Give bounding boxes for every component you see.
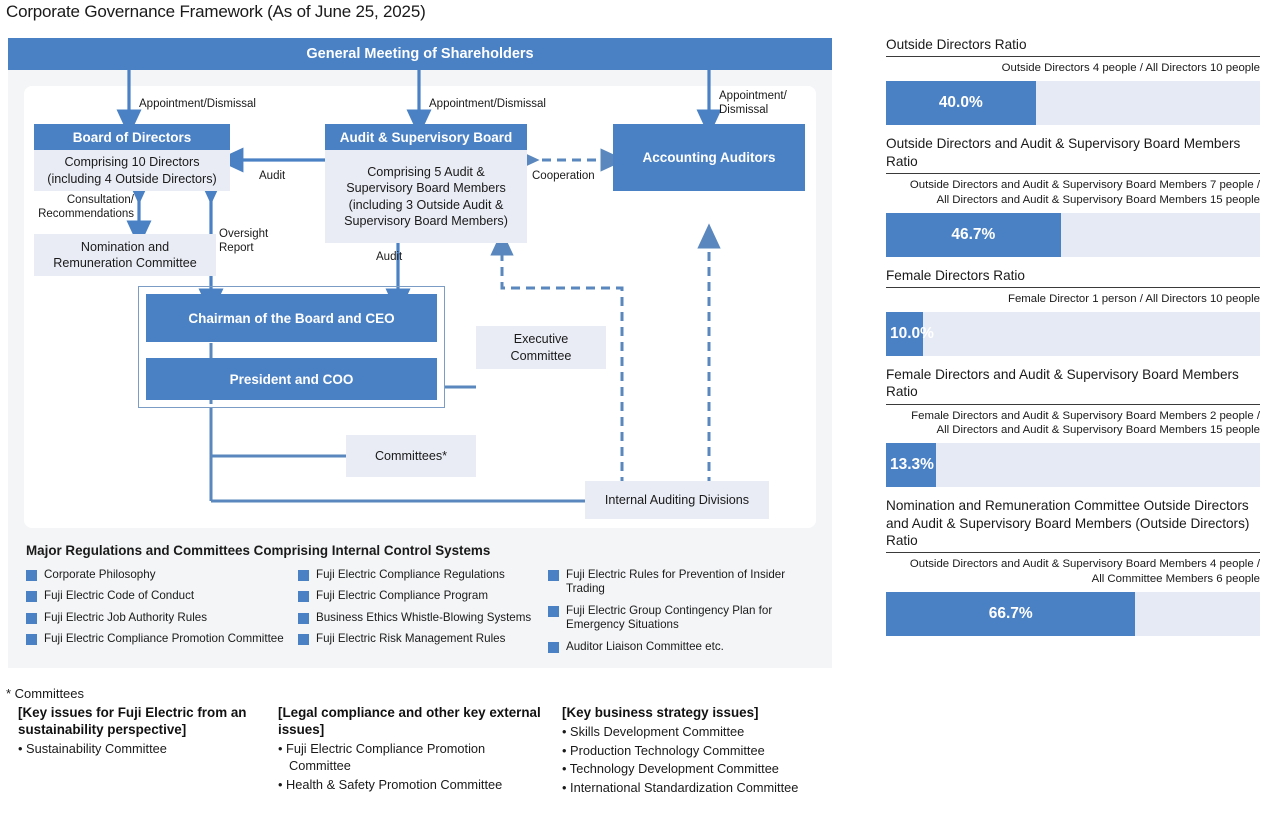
board-of-directors-title: Board of Directors bbox=[34, 124, 230, 150]
metric-subtext: Outside Directors and Audit & Supervisor… bbox=[886, 557, 1260, 587]
node-executive-committee: Executive Committee bbox=[476, 326, 606, 369]
bullet-square-icon bbox=[548, 642, 559, 653]
node-accounting-auditors: Accounting Auditors bbox=[613, 124, 805, 191]
metric-title: Female Directors and Audit & Supervisory… bbox=[886, 366, 1260, 401]
metric-value-label: 13.3% bbox=[890, 443, 934, 487]
edge-label-cooperation: Cooperation bbox=[532, 170, 595, 184]
regulation-label: Fuji Electric Compliance Program bbox=[316, 589, 488, 603]
regulation-label: Business Ethics Whistle-Blowing Systems bbox=[316, 611, 531, 625]
node-board-of-directors: Board of Directors Comprising 10 Directo… bbox=[34, 124, 230, 191]
footnote-item: • International Standardization Committe… bbox=[562, 780, 862, 797]
regulation-label: Fuji Electric Code of Conduct bbox=[44, 589, 194, 603]
regulation-label: Corporate Philosophy bbox=[44, 568, 156, 582]
edge-label-oversight-report: Oversight Report bbox=[219, 228, 289, 255]
governance-framework-page: Corporate Governance Framework (As of Ju… bbox=[0, 0, 1264, 830]
metric-subtext-line: Outside Directors 4 people / All Directo… bbox=[886, 61, 1260, 76]
bullet-square-icon bbox=[298, 591, 309, 602]
edge-label-appointment-1: Appointment/Dismissal bbox=[139, 98, 256, 112]
regulation-label: Fuji Electric Group Contingency Plan for… bbox=[566, 604, 824, 633]
metric-divider bbox=[886, 552, 1260, 553]
regulation-item: Auditor Liaison Committee etc. bbox=[548, 640, 824, 654]
footnote-column-3: [Key business strategy issues] • Skills … bbox=[562, 704, 862, 799]
regulation-label: Fuji Electric Risk Management Rules bbox=[316, 632, 505, 646]
bullet-square-icon bbox=[26, 634, 37, 645]
regulation-item: Fuji Electric Risk Management Rules bbox=[298, 632, 548, 646]
metric-subtext-line: All Committee Members 6 people bbox=[886, 572, 1260, 587]
metric-value-label: 66.7% bbox=[886, 592, 1135, 636]
footnote-heading: [Key issues for Fuji Electric from an su… bbox=[18, 704, 266, 738]
footnote-item: • Skills Development Committee bbox=[562, 724, 862, 741]
metric-outside-directors-and-asb-ratio: Outside Directors and Audit & Supervisor… bbox=[886, 135, 1260, 256]
bullet-square-icon bbox=[298, 570, 309, 581]
metric-value-label: 46.7% bbox=[886, 213, 1061, 257]
metric-outside-directors-ratio: Outside Directors Ratio Outside Director… bbox=[886, 36, 1260, 125]
footnote-item: • Technology Development Committee bbox=[562, 761, 862, 778]
regulation-item: Fuji Electric Compliance Regulations bbox=[298, 568, 548, 582]
edge-label-appointment-3: Appointment/ Dismissal bbox=[719, 90, 803, 117]
metric-nomination-committee-outside-ratio: Nomination and Remuneration Committee Ou… bbox=[886, 497, 1260, 636]
metric-subtext-line: Female Director 1 person / All Directors… bbox=[886, 292, 1260, 307]
regulation-item: Fuji Electric Rules for Prevention of In… bbox=[548, 568, 824, 597]
footnote-item: • Sustainability Committee bbox=[18, 741, 266, 758]
metric-subtext: Outside Directors and Audit & Supervisor… bbox=[886, 178, 1260, 208]
regulations-column-1: Corporate Philosophy Fuji Electric Code … bbox=[26, 568, 288, 654]
metric-subtext: Female Directors and Audit & Supervisory… bbox=[886, 409, 1260, 439]
metric-title: Nomination and Remuneration Committee Ou… bbox=[886, 497, 1260, 549]
regulation-label: Fuji Electric Rules for Prevention of In… bbox=[566, 568, 824, 597]
metric-title: Female Directors Ratio bbox=[886, 267, 1260, 284]
node-internal-auditing-divisions: Internal Auditing Divisions bbox=[585, 481, 769, 519]
audit-supervisory-board-title: Audit & Supervisory Board bbox=[325, 124, 527, 150]
regulation-item: Fuji Electric Group Contingency Plan for… bbox=[548, 604, 824, 633]
regulation-item: Fuji Electric Job Authority Rules bbox=[26, 611, 288, 625]
bullet-square-icon bbox=[298, 613, 309, 624]
footnote-heading: [Legal compliance and other key external… bbox=[278, 704, 548, 738]
metric-subtext-line: All Directors and Audit & Supervisory Bo… bbox=[886, 193, 1260, 208]
metric-subtext-line: Female Directors and Audit & Supervisory… bbox=[886, 409, 1260, 424]
metric-title: Outside Directors and Audit & Supervisor… bbox=[886, 135, 1260, 170]
metric-subtext-line: Outside Directors and Audit & Supervisor… bbox=[886, 178, 1260, 193]
regulation-label: Fuji Electric Compliance Promotion Commi… bbox=[44, 632, 284, 646]
edge-label-audit-to-ceo: Audit bbox=[376, 251, 402, 265]
ratio-metrics-panel: Outside Directors Ratio Outside Director… bbox=[886, 36, 1260, 646]
bullet-square-icon bbox=[26, 570, 37, 581]
footnote-column-2: [Legal compliance and other key external… bbox=[278, 704, 548, 795]
board-of-directors-detail: Comprising 10 Directors (including 4 Out… bbox=[34, 150, 230, 191]
metric-divider bbox=[886, 287, 1260, 288]
regulation-item: Fuji Electric Compliance Promotion Commi… bbox=[26, 632, 288, 646]
regulations-column-2: Fuji Electric Compliance Regulations Fuj… bbox=[298, 568, 548, 654]
node-general-meeting-of-shareholders: General Meeting of Shareholders bbox=[8, 38, 832, 70]
metric-subtext-line: All Directors and Audit & Supervisory Bo… bbox=[886, 423, 1260, 438]
metric-bar-track: 10.0% bbox=[886, 312, 1260, 356]
metric-subtext-line: Outside Directors and Audit & Supervisor… bbox=[886, 557, 1260, 572]
footnote-column-1: [Key issues for Fuji Electric from an su… bbox=[18, 704, 266, 760]
metric-female-directors-ratio: Female Directors Ratio Female Director 1… bbox=[886, 267, 1260, 356]
metric-bar-track: 13.3% bbox=[886, 443, 1260, 487]
metric-subtext: Outside Directors 4 people / All Directo… bbox=[886, 61, 1260, 76]
metric-title: Outside Directors Ratio bbox=[886, 36, 1260, 53]
regulation-item: Fuji Electric Compliance Program bbox=[298, 589, 548, 603]
regulation-item: Business Ethics Whistle-Blowing Systems bbox=[298, 611, 548, 625]
metric-subtext: Female Director 1 person / All Directors… bbox=[886, 292, 1260, 307]
bullet-square-icon bbox=[26, 591, 37, 602]
bullet-square-icon bbox=[298, 634, 309, 645]
regulations-column-3: Fuji Electric Rules for Prevention of In… bbox=[548, 568, 824, 661]
audit-supervisory-board-detail: Comprising 5 Audit & Supervisory Board M… bbox=[325, 150, 527, 243]
page-title: Corporate Governance Framework (As of Ju… bbox=[6, 2, 426, 22]
metric-female-directors-and-asb-ratio: Female Directors and Audit & Supervisory… bbox=[886, 366, 1260, 487]
governance-diagram-panel: General Meeting of Shareholders bbox=[8, 38, 832, 668]
node-nomination-remuneration-committee: Nomination and Remuneration Committee bbox=[34, 234, 216, 276]
node-audit-supervisory-board: Audit & Supervisory Board Comprising 5 A… bbox=[325, 124, 527, 243]
regulation-label: Auditor Liaison Committee etc. bbox=[566, 640, 724, 654]
node-president-coo: President and COO bbox=[146, 358, 437, 400]
metric-divider bbox=[886, 404, 1260, 405]
metric-divider bbox=[886, 173, 1260, 174]
regulation-item: Fuji Electric Code of Conduct bbox=[26, 589, 288, 603]
regulation-label: Fuji Electric Job Authority Rules bbox=[44, 611, 207, 625]
footnote-label: * Committees bbox=[6, 686, 856, 701]
footnote-item: • Health & Safety Promotion Committee bbox=[278, 777, 548, 794]
node-committees: Committees* bbox=[346, 435, 476, 477]
metric-value-label: 10.0% bbox=[890, 312, 934, 356]
metric-divider bbox=[886, 56, 1260, 57]
metric-bar-track: 40.0% bbox=[886, 81, 1260, 125]
regulations-title: Major Regulations and Committees Compris… bbox=[26, 543, 490, 558]
footnote-heading: [Key business strategy issues] bbox=[562, 704, 862, 721]
footnote-item: • Fuji Electric Compliance Promotion Com… bbox=[278, 741, 548, 774]
internal-control-regulations: Major Regulations and Committees Compris… bbox=[8, 534, 832, 668]
bullet-square-icon bbox=[548, 606, 559, 617]
footnote-item: • Production Technology Committee bbox=[562, 743, 862, 760]
node-chairman-ceo: Chairman of the Board and CEO bbox=[146, 294, 437, 342]
metric-bar-track: 66.7% bbox=[886, 592, 1260, 636]
metric-value-label: 40.0% bbox=[886, 81, 1036, 125]
edge-label-audit-to-board: Audit bbox=[259, 170, 285, 184]
bullet-square-icon bbox=[548, 570, 559, 581]
bullet-square-icon bbox=[26, 613, 37, 624]
committees-footnote: * Committees [Key issues for Fuji Electr… bbox=[6, 686, 856, 830]
edge-label-appointment-2: Appointment/Dismissal bbox=[429, 98, 546, 112]
metric-bar-track: 46.7% bbox=[886, 213, 1260, 257]
regulation-item: Corporate Philosophy bbox=[26, 568, 288, 582]
edge-label-consultation: Consultation/ Recommendations bbox=[30, 194, 134, 221]
regulation-label: Fuji Electric Compliance Regulations bbox=[316, 568, 505, 582]
